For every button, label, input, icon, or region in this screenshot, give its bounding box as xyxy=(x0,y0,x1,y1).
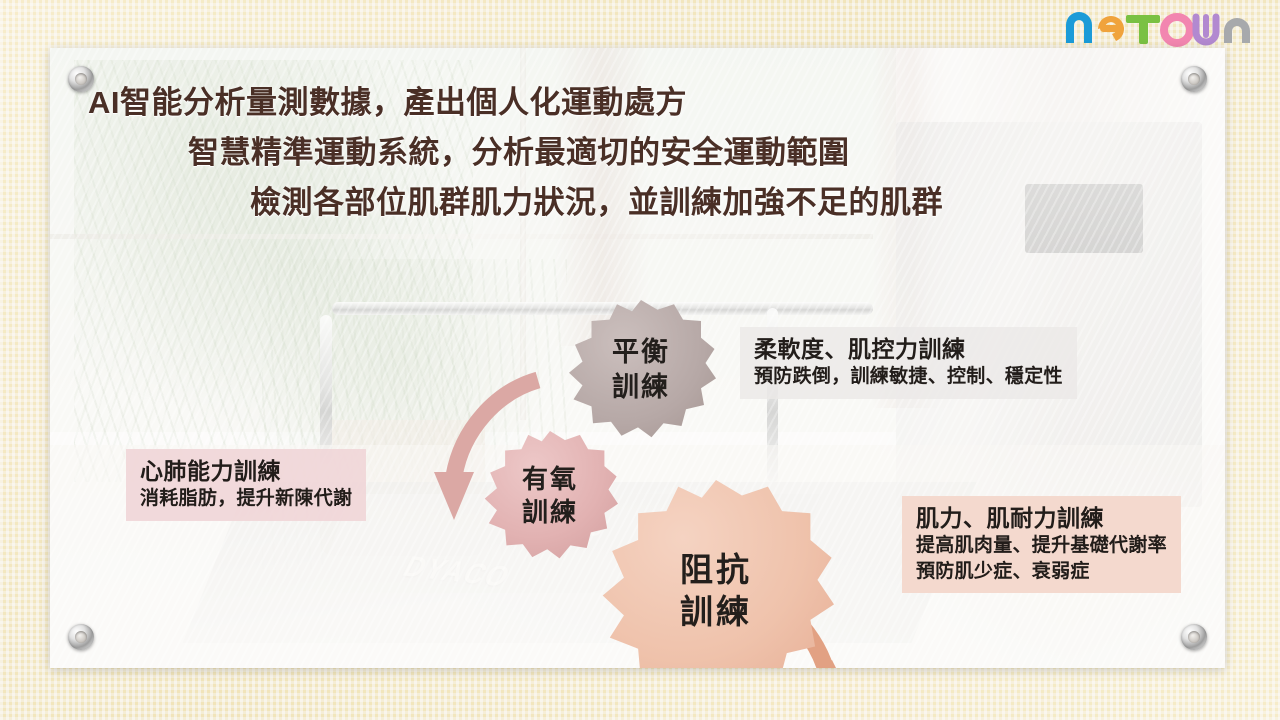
callout-cardio-subline-1: 消耗脂肪，提升新陳代謝 xyxy=(140,486,352,511)
gear-aerobic-line-1: 有氧 xyxy=(522,463,578,496)
callout-strength-heading: 肌力、肌耐力訓練 xyxy=(916,503,1167,533)
callout-flexibility-heading: 柔軟度、肌控力訓練 xyxy=(754,334,1063,364)
gear-balance-line-1: 平衡 xyxy=(612,335,670,370)
gear-resistance-line-1: 阻抗 xyxy=(680,549,752,591)
netown-logo xyxy=(1060,6,1256,46)
logo-letter-t-stem xyxy=(1139,19,1148,44)
callout-cardio-heading: 心肺能力訓練 xyxy=(140,456,352,486)
callout-strength: 肌力、肌耐力訓練 提高肌肉量、提升基礎代謝率 預防肌少症、衰弱症 xyxy=(902,496,1181,593)
callout-flexibility: 柔軟度、肌控力訓練 預防跌倒，訓練敏捷、控制、穩定性 xyxy=(740,327,1077,399)
screw-bottom-right xyxy=(1181,624,1207,650)
headline-line-1: AI智能分析量測數據，產出個人化運動處方 xyxy=(50,78,1225,128)
screw-bottom-left xyxy=(68,624,94,650)
logo-letter-e-bar xyxy=(1100,25,1124,32)
gear-balance-line-2: 訓練 xyxy=(612,370,670,405)
callout-strength-subline-2: 預防肌少症、衰弱症 xyxy=(916,559,1167,584)
gear-aerobic-line-2: 訓練 xyxy=(522,496,578,529)
logo-letter-n1 xyxy=(1066,12,1092,43)
headline-block: AI智能分析量測數據，產出個人化運動處方 智慧精準運動系統，分析最適切的安全運動… xyxy=(50,78,1225,228)
callout-flexibility-subline-1: 預防跌倒，訓練敏捷、控制、穩定性 xyxy=(754,364,1063,389)
logo-letter-o xyxy=(1164,17,1190,43)
callout-strength-subline-1: 提高肌肉量、提升基礎代謝率 xyxy=(916,533,1167,558)
netown-logo-mark xyxy=(1060,5,1256,47)
gear-resistance-line-2: 訓練 xyxy=(680,591,752,633)
slide-root: DYACO SMS AI智能分析量測數據，產出個人化運動處方 智慧精準運動系統，… xyxy=(0,0,1280,720)
content-panel: DYACO SMS AI智能分析量測數據，產出個人化運動處方 智慧精準運動系統，… xyxy=(50,48,1225,668)
logo-letter-n2 xyxy=(1224,18,1250,43)
headline-line-2: 智慧精準運動系統，分析最適切的安全運動範圍 xyxy=(50,128,1225,178)
callout-cardio: 心肺能力訓練 消耗脂肪，提升新陳代謝 xyxy=(126,449,366,521)
headline-line-3: 檢測各部位肌群肌力狀況，並訓練加強不足的肌群 xyxy=(50,178,1225,228)
